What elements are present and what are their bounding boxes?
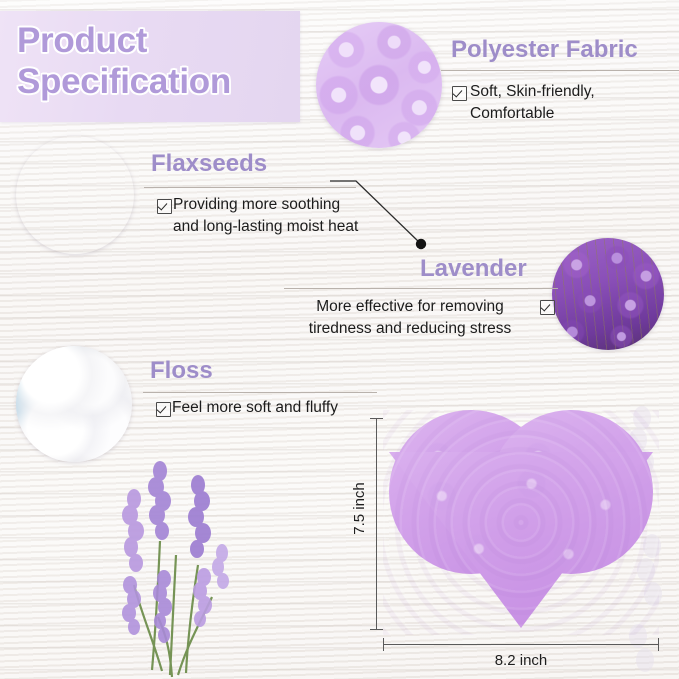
checkbox-icon [157, 199, 172, 214]
dimension-cap-bottom [370, 629, 383, 630]
dimension-line-horizontal [383, 644, 659, 645]
dimension-cap-left [383, 638, 384, 651]
polyester-fabric-image [316, 22, 442, 148]
checkbox-icon [452, 86, 467, 101]
section-divider-flaxseeds [144, 187, 356, 188]
dimension-cap-right [658, 638, 659, 651]
dimension-line-vertical [376, 418, 377, 630]
section-divider-polyester [441, 70, 679, 71]
leader-line [330, 175, 450, 265]
product-image-heart-pillow [383, 410, 659, 635]
section-heading-lavender: Lavender [420, 255, 527, 283]
infographic-canvas: Product Specification Polyester Fabric S… [0, 0, 679, 679]
section-bullet-polyester: Soft, Skin-friendly, Comfortable [470, 81, 595, 125]
checkbox-icon [156, 402, 171, 417]
lavender-image [552, 238, 664, 350]
section-bullet-lavender: More effective for removing tiredness an… [284, 296, 536, 340]
section-divider-lavender [284, 288, 558, 289]
section-bullet-floss: Feel more soft and fluffy [172, 397, 338, 419]
dimension-cap-top [370, 418, 383, 419]
checkbox-icon [540, 300, 555, 315]
section-heading-flaxseeds: Flaxseeds [151, 150, 267, 178]
dimension-label-height: 7.5 inch [351, 482, 368, 535]
lavender-sprig-bouquet [100, 445, 260, 679]
section-heading-floss: Floss [150, 357, 213, 385]
section-divider-floss [143, 392, 377, 393]
dimension-label-width: 8.2 inch [383, 652, 659, 669]
section-heading-polyester: Polyester Fabric [451, 36, 638, 64]
title-banner: Product Specification [0, 11, 300, 122]
page-title: Product Specification [17, 20, 231, 102]
flaxseeds-image [16, 136, 134, 254]
